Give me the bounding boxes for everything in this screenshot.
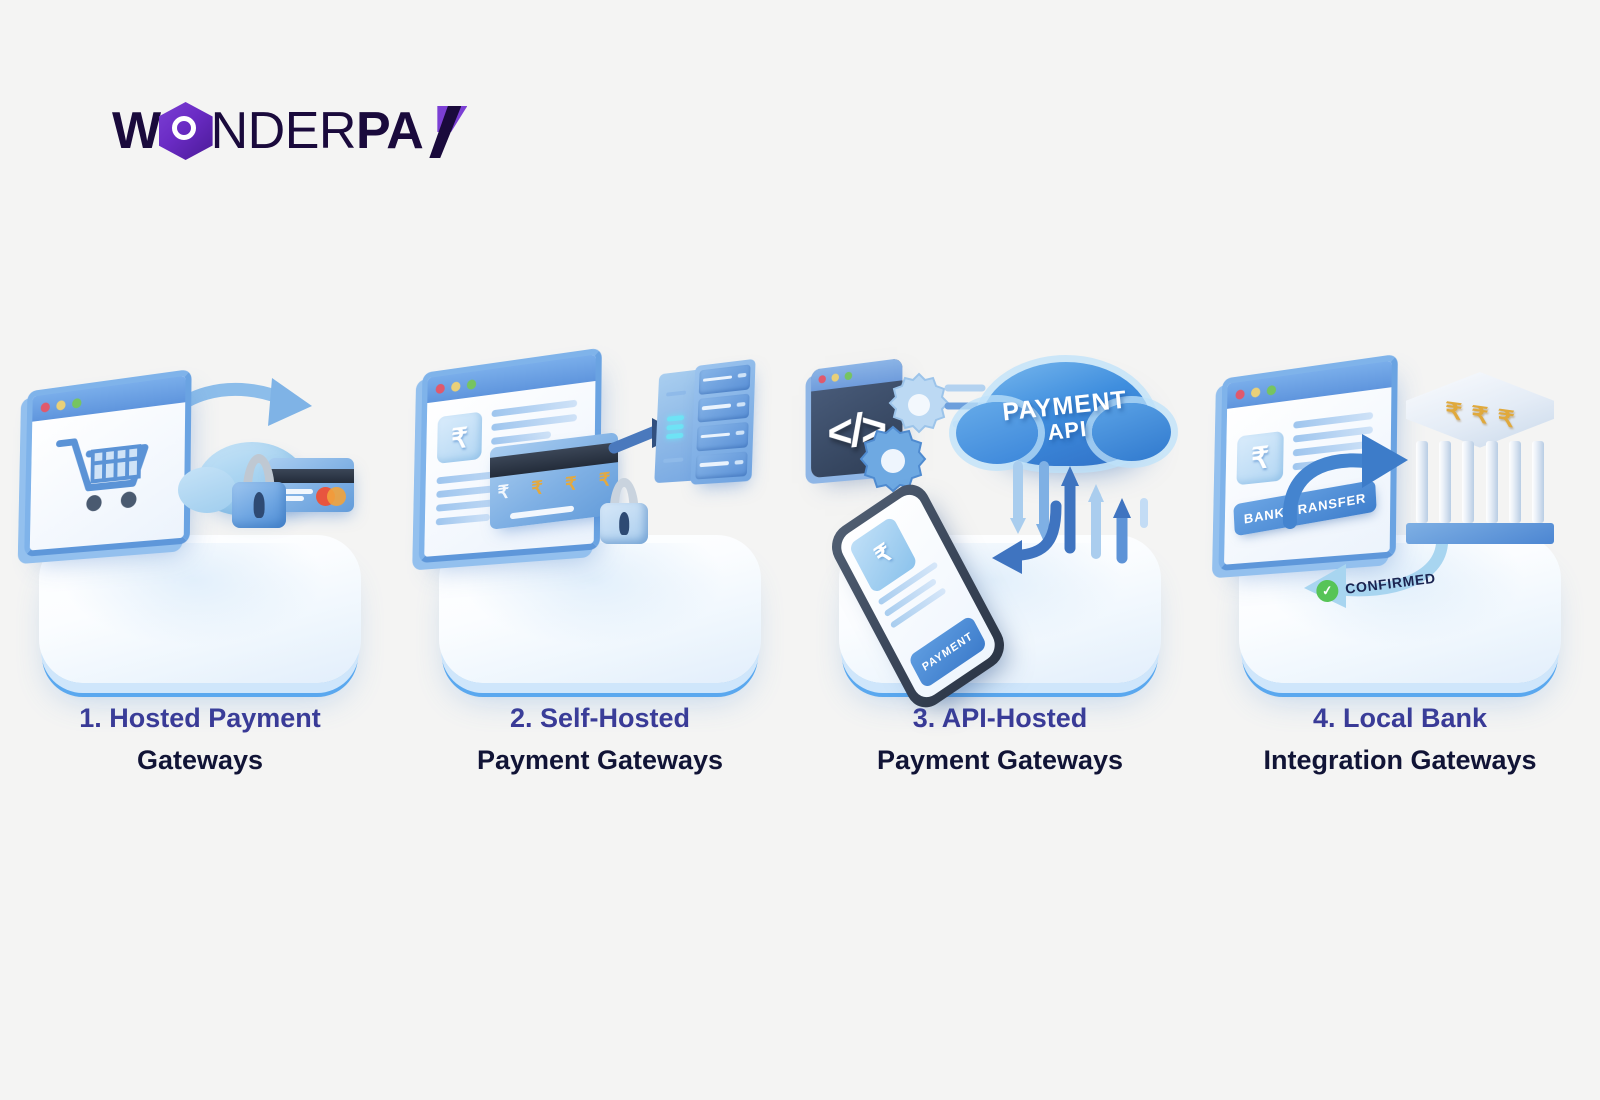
rupee-tile: ₹ [437, 412, 482, 464]
panel-api-hosted-payment-gateways: </> [800, 350, 1200, 777]
curved-arrow-to-bank [1276, 426, 1426, 536]
server-bay [697, 393, 749, 423]
payment-api-cloud: PAYMENT API [980, 362, 1152, 466]
bank-columns [1416, 441, 1543, 524]
caption-line-2: Gateways [14, 744, 386, 776]
hexagon-o-icon [159, 102, 213, 160]
caption-line-2: Integration Gateways [1214, 744, 1586, 776]
panel-caption: 4. Local Bank Integration Gateways [1200, 702, 1600, 777]
rupee-symbol: ₹ [1445, 397, 1462, 425]
caption-line-1: 2. Self-Hosted [414, 702, 786, 734]
padlock-icon [232, 454, 286, 528]
logo-letters-pa: PA [356, 105, 423, 157]
caption-line-2: Payment Gateways [414, 744, 786, 776]
panel-caption: 1. Hosted Payment Gateways [0, 702, 400, 777]
logo-letter-y [423, 104, 467, 158]
panel-hosted-payment-gateways: 1. Hosted Payment Gateways [0, 350, 400, 777]
panel-caption: 3. API-Hosted Payment Gateways [800, 702, 1200, 777]
gateway-type-grid: 1. Hosted Payment Gateways ₹ [0, 350, 1600, 777]
bank-base [1406, 523, 1554, 544]
rupee-symbol: ₹ [1471, 401, 1488, 429]
server-rack-icon [654, 359, 756, 487]
maximize-dot-icon[interactable] [72, 398, 82, 409]
logo-wordmark: W NDER PA [112, 102, 467, 160]
server-bay [698, 364, 750, 394]
shopping-cart-icon [52, 422, 155, 521]
illustration-api-hosted: </> [800, 350, 1200, 680]
minimize-dot-icon[interactable] [831, 373, 838, 382]
card-currency-row: ₹ ₹ ₹ ₹ [498, 469, 611, 504]
maximize-dot-icon[interactable] [1267, 385, 1276, 396]
padlock-icon [600, 478, 648, 544]
maximize-dot-icon[interactable] [845, 371, 853, 380]
logo-letters-nder: NDER [211, 105, 356, 157]
close-dot-icon[interactable] [436, 383, 445, 394]
close-dot-icon[interactable] [1235, 389, 1244, 400]
panel-caption: 2. Self-Hosted Payment Gateways [400, 702, 800, 777]
minimize-dot-icon[interactable] [56, 400, 65, 411]
check-circle-icon: ✓ [1315, 579, 1340, 604]
close-dot-icon[interactable] [818, 375, 825, 384]
server-bay [695, 451, 748, 480]
rupee-symbol: ₹ [870, 538, 896, 572]
bank-building-icon: ₹ ₹ ₹ [1406, 372, 1554, 544]
server-bay [696, 422, 749, 451]
minimize-dot-icon[interactable] [451, 381, 460, 392]
caption-line-2: Payment Gateways [814, 744, 1186, 776]
browser-window[interactable] [24, 369, 191, 557]
logo-letter-w: W [112, 105, 161, 157]
minimize-dot-icon[interactable] [1251, 387, 1260, 398]
rupee-symbol: ₹ [1498, 405, 1515, 433]
panel-self-hosted-payment-gateways: ₹ ₹ ₹ ₹ ₹ [400, 350, 800, 777]
rupee-symbol: ₹ [451, 421, 468, 455]
illustration-hosted [0, 350, 400, 680]
credit-card-icon: ₹ ₹ ₹ ₹ [490, 432, 618, 530]
brand-logo: W NDER PA [112, 100, 467, 162]
panel-local-bank-integration-gateways: ₹ BANK TRANSFER ✓ [1200, 350, 1600, 777]
bank-rupee-symbols: ₹ ₹ ₹ [1406, 381, 1554, 450]
server-led-indicators [666, 415, 684, 439]
window-content [29, 402, 185, 557]
maximize-dot-icon[interactable] [467, 379, 476, 390]
platform-base [39, 535, 361, 683]
caption-line-1: 1. Hosted Payment [14, 702, 386, 734]
caption-line-1: 4. Local Bank [1214, 702, 1586, 734]
illustration-self-hosted: ₹ ₹ ₹ ₹ ₹ [400, 350, 800, 680]
curved-arrow-to-phone [986, 500, 1076, 580]
rupee-symbol: ₹ [1251, 440, 1269, 476]
server-bays [690, 359, 756, 485]
caption-line-1: 3. API-Hosted [814, 702, 1186, 734]
illustration-local-bank: ₹ BANK TRANSFER ✓ [1200, 350, 1600, 680]
close-dot-icon[interactable] [41, 402, 50, 413]
